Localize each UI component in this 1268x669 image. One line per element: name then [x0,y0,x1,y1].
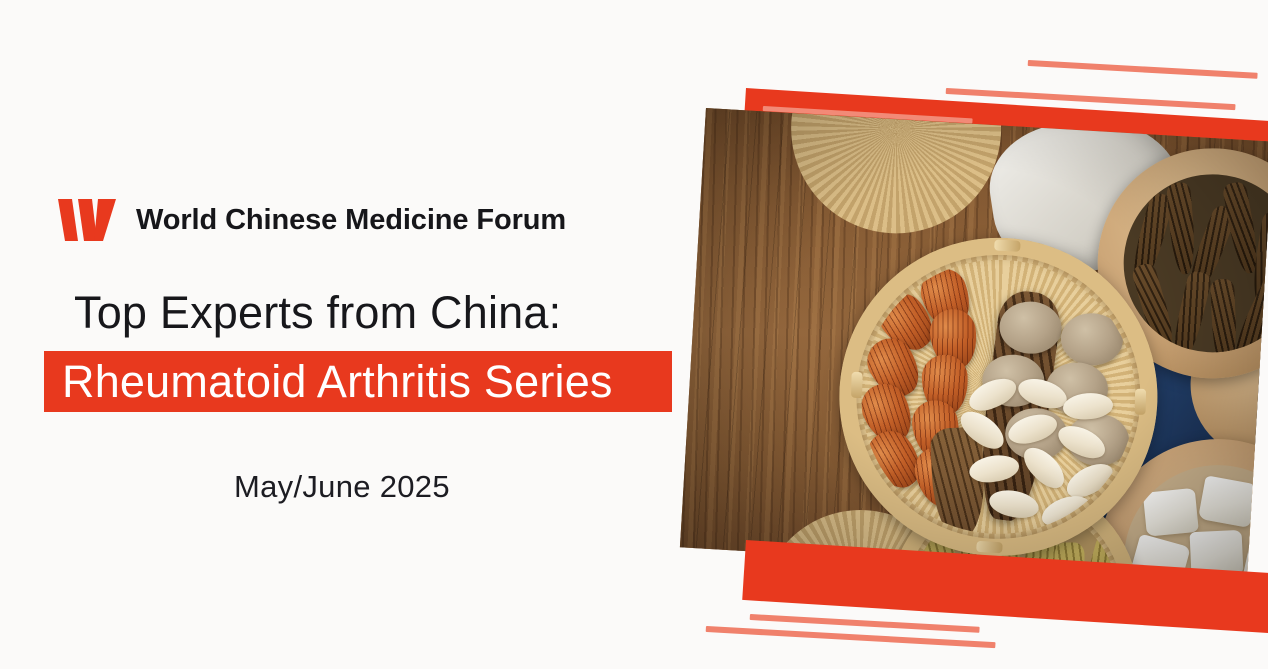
basket-tie [976,541,1003,554]
white-root-chunk [1255,495,1268,540]
basket-tie [851,372,863,398]
event-date: May/June 2025 [234,469,450,505]
w-monogram-icon [56,197,118,243]
headline-line-1: Top Experts from China: [74,288,561,338]
herbal-medicine-photo [680,108,1268,581]
promo-banner: World Chinese Medicine Forum Top Experts… [0,0,1268,669]
white-root-chunk [1198,475,1257,528]
headline-line-2: Rheumatoid Arthritis Series [62,359,613,404]
text-column: World Chinese Medicine Forum Top Experts… [0,0,700,669]
headline-highlight-band: Rheumatoid Arthritis Series [44,351,672,412]
basket-tie [994,239,1021,252]
white-root-chunk [1143,488,1199,537]
dried-bark-piece [1166,182,1197,276]
visual-column [688,0,1268,669]
dried-bark-piece [1168,270,1213,358]
brand-name: World Chinese Medicine Forum [136,206,566,235]
basket-tie [1135,389,1147,415]
bowl-contents-white-chunks [1119,460,1268,581]
dried-bark-piece [1210,279,1238,358]
brand-lockup: World Chinese Medicine Forum [56,196,566,244]
accent-line-top-1 [1028,60,1258,79]
